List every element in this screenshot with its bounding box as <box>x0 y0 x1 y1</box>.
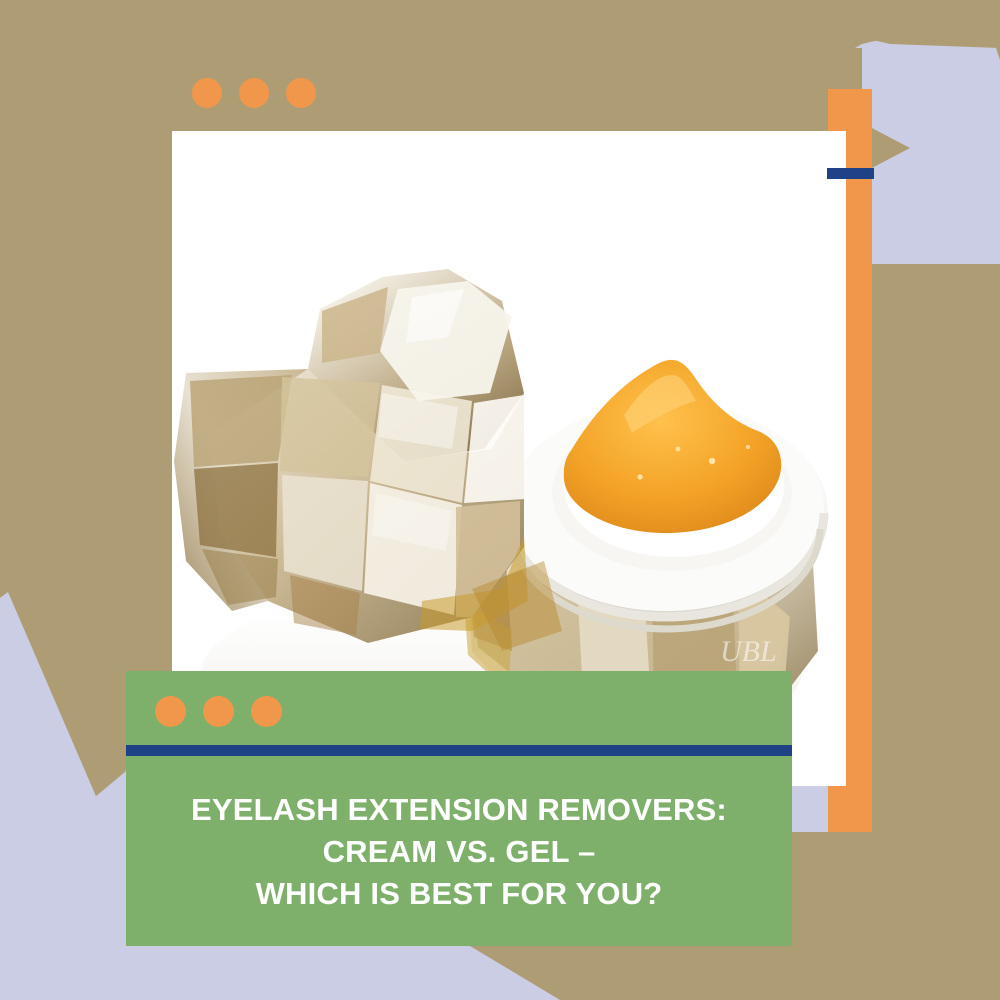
card-dot-cluster <box>155 696 282 727</box>
circle-dot-icon <box>192 78 222 108</box>
jar-engraving-text: UBL <box>720 635 777 668</box>
card-divider-rule <box>126 745 792 756</box>
navy-dash-icon <box>827 168 874 179</box>
circle-dot-icon <box>203 696 234 727</box>
circle-dot-icon <box>239 78 269 108</box>
page-title: EYELASH EXTENSION REMOVERS: CREAM VS. GE… <box>126 789 792 915</box>
poster-canvas: UBL <box>0 0 1000 1000</box>
circle-dot-icon <box>251 696 282 727</box>
circle-dot-icon <box>155 696 186 727</box>
top-dot-cluster <box>192 78 316 108</box>
circle-dot-icon <box>286 78 316 108</box>
